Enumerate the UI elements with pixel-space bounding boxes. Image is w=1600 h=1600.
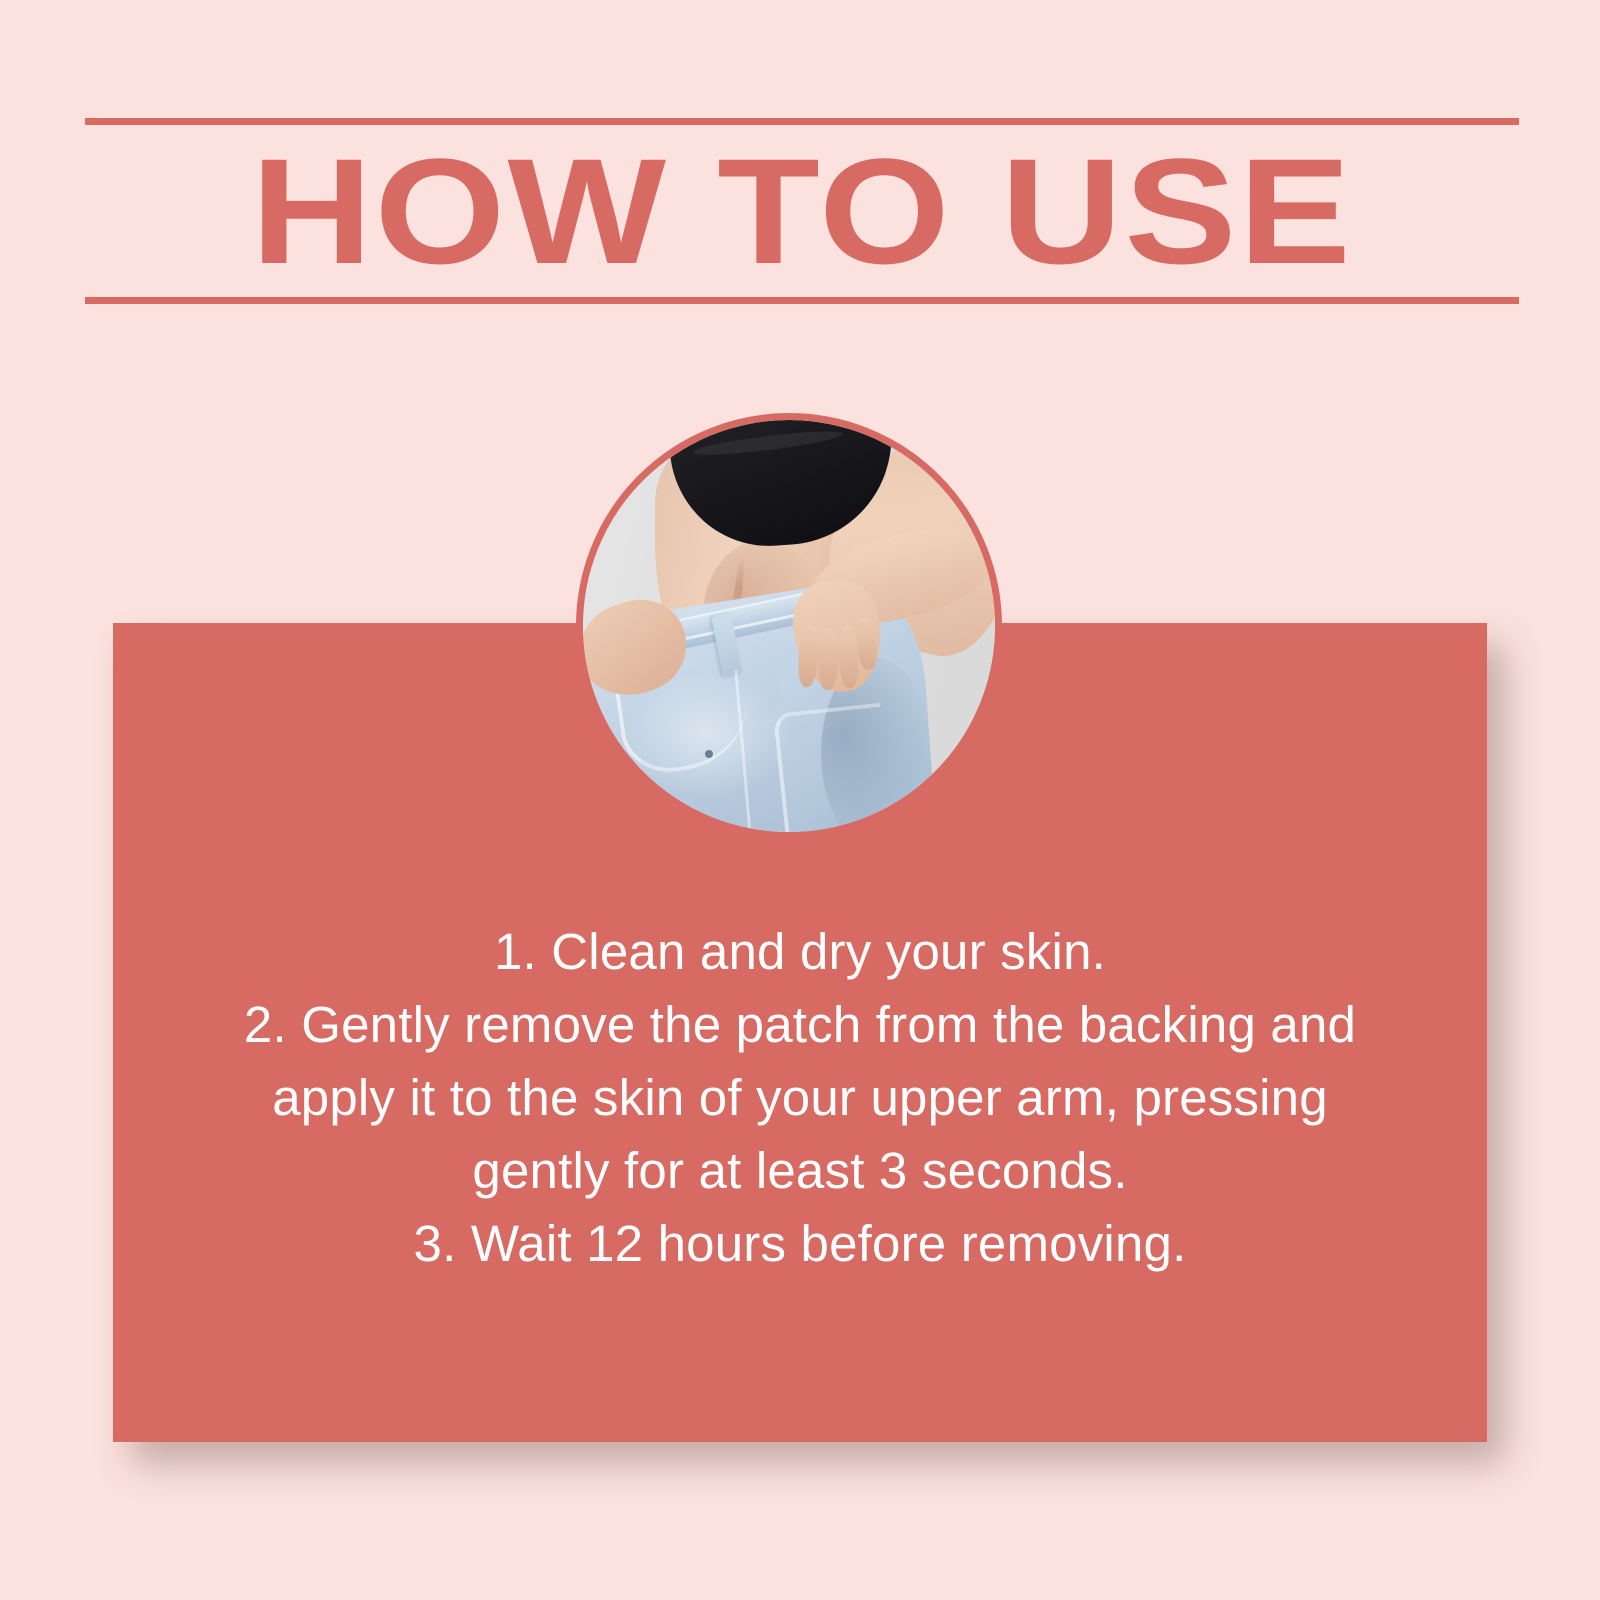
instruction-line: apply it to the skin of your upper arm, … [113,1061,1487,1134]
instruction-line: 3. Wait 12 hours before removing. [113,1207,1487,1280]
header-rule-top [85,118,1519,125]
how-to-use-poster: HOW TO USE [0,0,1600,1600]
page-title: HOW TO USE [0,125,1600,297]
instructions-block: 1. Clean and dry your skin. 2. Gently re… [113,915,1487,1280]
hero-photo-image [583,420,995,832]
header: HOW TO USE [85,118,1519,304]
instruction-line: 2. Gently remove the patch from the back… [113,988,1487,1061]
photo-jeans-pocket-right [773,703,893,832]
hero-photo-circle [576,413,1002,839]
instruction-line: gently for at least 3 seconds. [113,1134,1487,1207]
photo-jeans-rivet [705,750,713,758]
instruction-line: 1. Clean and dry your skin. [113,915,1487,988]
header-rule-bottom [85,297,1519,304]
